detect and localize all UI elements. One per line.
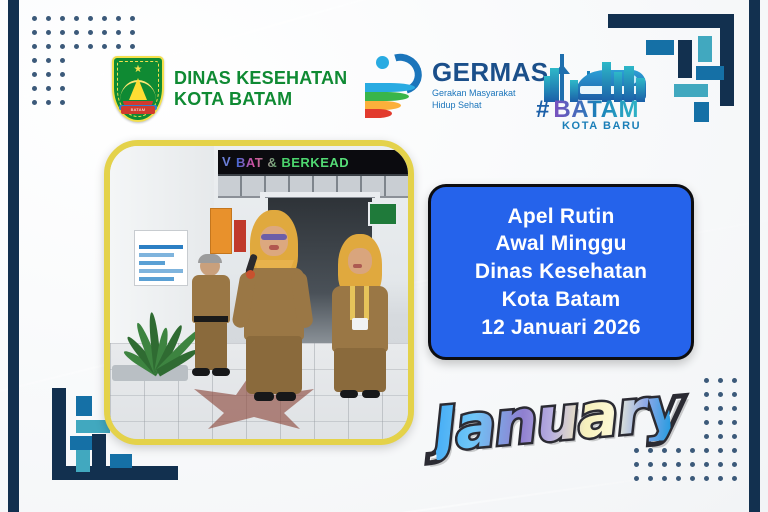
dot (732, 448, 737, 453)
dot (116, 30, 121, 35)
dot (60, 30, 65, 35)
dot (732, 434, 737, 439)
logo-row: ★ BATAM DINAS KESEHATAN KOTA BATAM (0, 44, 768, 140)
dot (718, 476, 723, 481)
dot (704, 476, 709, 481)
dot (704, 420, 709, 425)
dot (676, 448, 681, 453)
led-text: BAT & BERKEAD (236, 155, 349, 170)
dot (130, 30, 135, 35)
poster-canvas: ★ BATAM DINAS KESEHATAN KOTA BATAM (0, 0, 768, 512)
led-banner: V BAT & BERKEAD (218, 150, 408, 176)
info-line-5: 12 Januari 2026 (481, 314, 640, 342)
germas-tagline-2: Hidup Sehat (432, 100, 549, 111)
dot (732, 420, 737, 425)
dot-row (634, 462, 746, 476)
event-info-box: Apel Rutin Awal Minggu Dinas Kesehatan K… (428, 184, 694, 360)
photo-person-right (324, 234, 396, 402)
poster-line (139, 253, 174, 257)
dot (46, 30, 51, 35)
dot (732, 392, 737, 397)
photo-id-badge (352, 318, 368, 330)
dot (704, 462, 709, 467)
poster-line (139, 261, 165, 265)
photo-person-speaker (232, 210, 316, 406)
dot (718, 448, 723, 453)
hash-icon: # (536, 98, 549, 122)
poster-line (139, 277, 174, 281)
dot (88, 16, 93, 21)
dot-row (32, 16, 144, 30)
logo-batam-kota-baru: # BATAM KOTA BARU (536, 50, 656, 134)
dot (732, 462, 737, 467)
dot (718, 378, 723, 383)
poster-line (139, 269, 183, 273)
photo-person-background (186, 256, 238, 388)
photo-wall-poster (134, 230, 188, 286)
dot (676, 476, 681, 481)
photo-green-sign (368, 202, 398, 226)
dot (732, 476, 737, 481)
dot (102, 16, 107, 21)
dot (32, 30, 37, 35)
info-line-4: Kota Batam (502, 286, 621, 314)
dot (648, 476, 653, 481)
bracket-bar-horizontal (52, 466, 178, 480)
logo-germas: GERMAS Gerakan Masyarakat Hidup Sehat (362, 52, 549, 118)
decor-block-4 (92, 434, 106, 472)
dot (634, 476, 639, 481)
dot (690, 462, 695, 467)
dot (690, 476, 695, 481)
dot (718, 392, 723, 397)
photo-orange-cabinet (210, 208, 232, 254)
dot (46, 16, 51, 21)
dot (718, 434, 723, 439)
dot (732, 406, 737, 411)
dot (662, 476, 667, 481)
germas-figure-icon (362, 52, 424, 118)
dot (88, 30, 93, 35)
dot (676, 462, 681, 467)
dot (116, 16, 121, 21)
info-line-3: Dinas Kesehatan (475, 258, 647, 286)
decor-block-6 (110, 454, 132, 468)
dot (130, 16, 135, 21)
dot (718, 420, 723, 425)
germas-wordmark: GERMAS (432, 59, 549, 85)
dot (662, 462, 667, 467)
dot (74, 30, 79, 35)
dot (32, 16, 37, 21)
dot (60, 16, 65, 21)
dot (102, 30, 107, 35)
led-prefix: V (222, 154, 231, 169)
dot (732, 378, 737, 383)
info-line-1: Apel Rutin (508, 203, 615, 231)
event-photo: V BAT & BERKEAD (104, 140, 414, 445)
dot (648, 462, 653, 467)
batam-coat-of-arms-icon: ★ BATAM (112, 56, 164, 122)
dot-row (32, 30, 144, 44)
dot (704, 406, 709, 411)
bracket-bar-horizontal (608, 14, 734, 28)
batam-wordmark: BATAM (553, 98, 639, 122)
decor-block-5 (76, 450, 90, 472)
germas-tagline-1: Gerakan Masyarakat (432, 88, 549, 99)
dot (704, 434, 709, 439)
info-line-2: Awal Minggu (495, 230, 626, 258)
dot (704, 448, 709, 453)
dinkes-line-1: DINAS KESEHATAN (174, 68, 347, 89)
batam-tagline: KOTA BARU (562, 120, 641, 132)
poster-line (139, 245, 183, 249)
dot (704, 378, 709, 383)
dot (634, 462, 639, 467)
dot (718, 406, 723, 411)
dot (74, 16, 79, 21)
dot (704, 392, 709, 397)
emblem-ribbon-label: BATAM (121, 106, 155, 114)
dot-row (634, 476, 746, 490)
decor-block-1 (76, 396, 92, 416)
dot (718, 462, 723, 467)
dot (690, 448, 695, 453)
city-skyline-icon (544, 50, 648, 102)
logo-dinas-kesehatan: ★ BATAM DINAS KESEHATAN KOTA BATAM (112, 56, 347, 122)
dinkes-line-2: KOTA BATAM (174, 89, 347, 110)
